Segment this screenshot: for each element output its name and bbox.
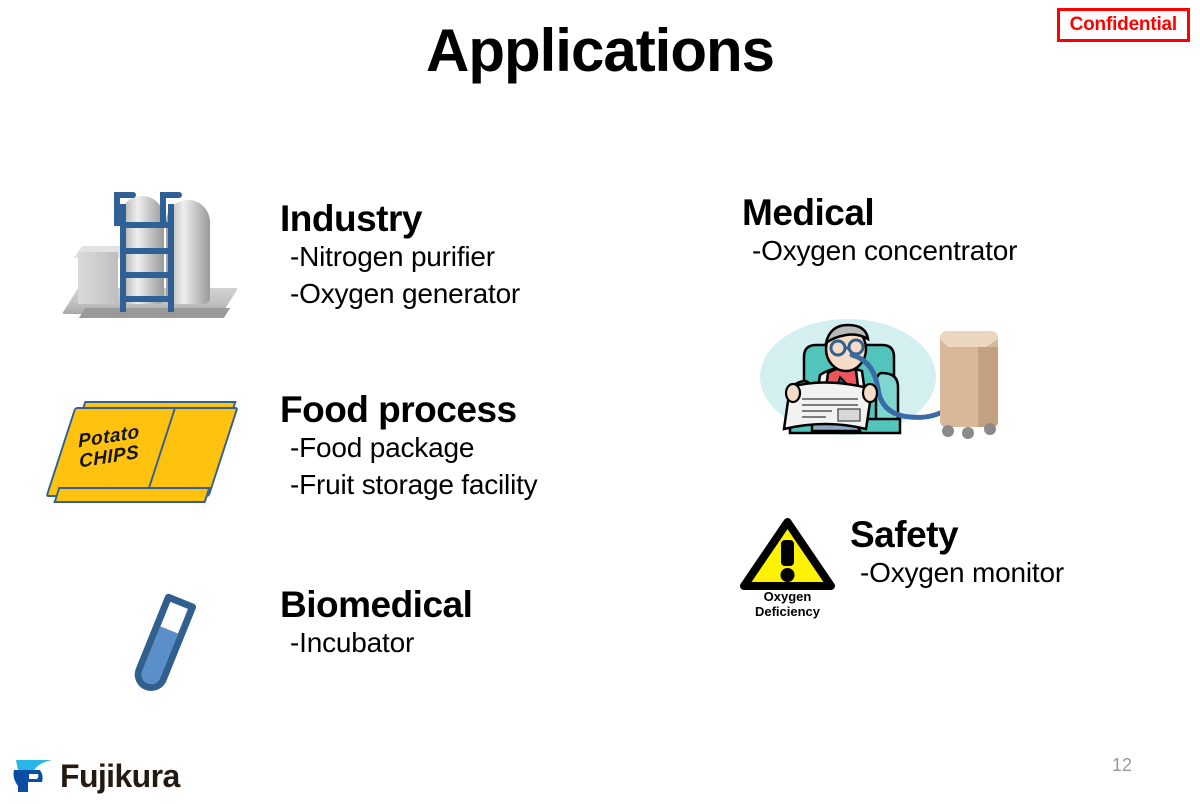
page-number: 12 (1112, 755, 1132, 776)
safety-bullet-1: -Oxygen monitor (850, 555, 1064, 592)
warning-triangle-svg (740, 518, 835, 590)
safety-text-block: Safety -Oxygen monitor (850, 516, 1064, 592)
fujikura-logo-text: Fujikura (60, 758, 180, 795)
safety-heading: Safety (850, 516, 1064, 555)
oxygen-concentrator-patient-icon (760, 315, 1010, 450)
slide-canvas: Confidential Applications (0, 0, 1200, 804)
industry-text-block: Industry -Nitrogen purifier -Oxygen gene… (280, 200, 520, 313)
section-food-process: Potato CHIPS Food process -Food package … (40, 375, 620, 545)
test-tube-icon (106, 590, 216, 700)
medical-bullet-1: -Oxygen concentrator (742, 233, 1017, 270)
biomedical-bullet-1: -Incubator (280, 625, 472, 662)
section-biomedical: Biomedical -Incubator (40, 572, 620, 722)
food-process-text-block: Food process -Food package -Fruit storag… (280, 391, 537, 504)
left-column: Industry -Nitrogen purifier -Oxygen gene… (40, 160, 620, 720)
biomedical-heading: Biomedical (280, 586, 472, 625)
industrial-plant-icon (68, 190, 238, 335)
industry-bullet-1: -Nitrogen purifier (280, 239, 520, 276)
food-process-heading: Food process (280, 391, 537, 430)
page-title: Applications (0, 18, 1200, 84)
section-safety: Oxygen Deficiency Safety -Oxygen monitor (700, 500, 1180, 640)
medical-text-block: Medical -Oxygen concentrator (742, 194, 1017, 270)
right-column: Medical -Oxygen concentrator (700, 160, 1180, 720)
industry-bullet-2: -Oxygen generator (280, 276, 520, 313)
oxygen-concentrator-scene-svg (760, 315, 1010, 450)
biomedical-text-block: Biomedical -Incubator (280, 586, 472, 662)
fujikura-logo: Fujikura (10, 756, 180, 796)
warning-caption-line2: Deficiency (740, 605, 835, 620)
fujikura-mark-icon (10, 756, 56, 796)
test-tube-svg (106, 590, 216, 700)
oxygen-deficiency-warning-icon: Oxygen Deficiency (740, 518, 835, 623)
industry-heading: Industry (280, 200, 520, 239)
food-process-bullet-2: -Fruit storage facility (280, 467, 537, 504)
potato-chips-bag-icon: Potato CHIPS (54, 397, 244, 507)
section-industry: Industry -Nitrogen purifier -Oxygen gene… (40, 180, 620, 350)
warning-caption-line1: Oxygen (740, 590, 835, 605)
food-process-bullet-1: -Food package (280, 430, 537, 467)
section-medical: Medical -Oxygen concentrator (700, 180, 1180, 480)
medical-heading: Medical (742, 194, 1017, 233)
warning-caption: Oxygen Deficiency (740, 590, 835, 619)
